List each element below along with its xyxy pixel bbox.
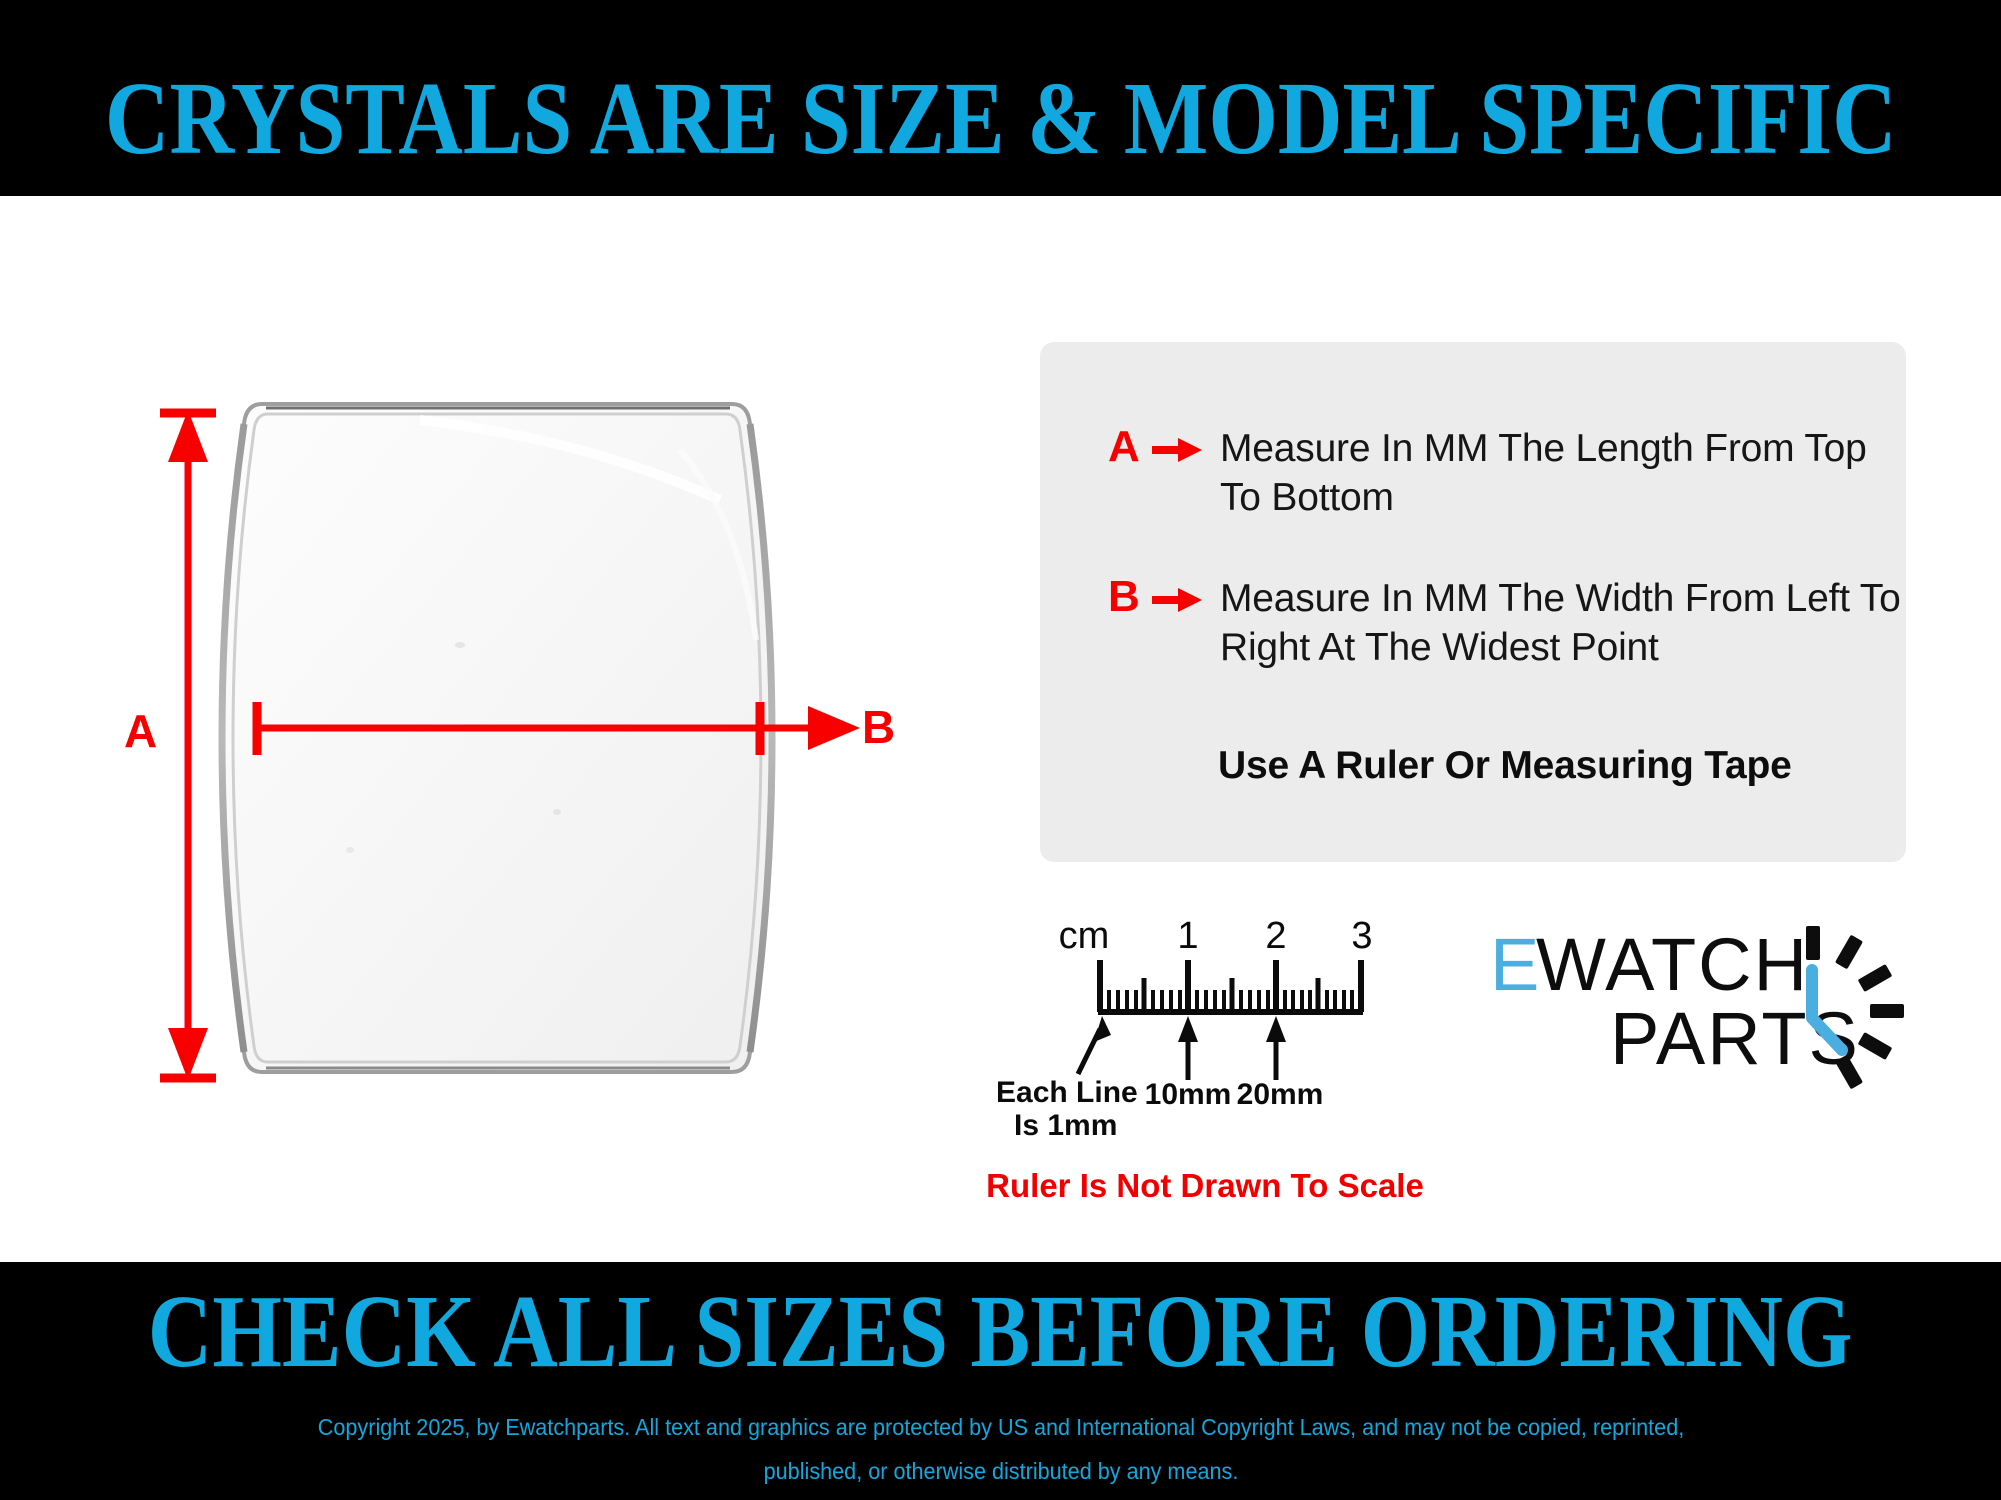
instruction-b-text: Measure In MM The Width From Left To Rig… — [1220, 574, 1906, 672]
ruler-label-2: 2 — [1265, 915, 1286, 957]
ruler-callout-10mm: 10mm — [1145, 1078, 1232, 1111]
ruler-label-1: 1 — [1177, 915, 1198, 957]
ruler-callout-20mm: 20mm — [1237, 1078, 1324, 1111]
ruler-label-3: 3 — [1351, 915, 1372, 957]
arrow-right-icon — [1150, 578, 1204, 624]
bottom-banner: CHECK ALL SIZES BEFORE ORDERING Copyrigh… — [0, 1262, 2001, 1500]
ruler-caption-line2: Is 1mm — [1014, 1109, 1117, 1142]
ruler-caption-line1: Each Line — [996, 1076, 1138, 1109]
instructions-panel: A Measure In MM The Length From Top To B… — [1040, 342, 1906, 862]
arrowhead-right — [808, 706, 860, 750]
instruction-a-text: Measure In MM The Length From Top To Bot… — [1220, 424, 1906, 522]
dimension-a-label: A — [124, 708, 157, 754]
crystal-illustration — [120, 380, 950, 1110]
logo-letter-e: E — [1490, 923, 1541, 1006]
callout-arrowhead-1mm — [1094, 1016, 1111, 1042]
dimension-b-arrow — [120, 380, 950, 1110]
top-banner: CRYSTALS ARE SIZE & MODEL SPECIFIC — [0, 0, 2001, 196]
copyright-notice: Copyright 2025, by Ewatchparts. All text… — [267, 1406, 1733, 1493]
ewatchparts-logo-svg: E WATCH PARTS — [1490, 912, 1920, 1112]
logo-text-parts: PARTS — [1610, 997, 1860, 1080]
instruction-a-letter: A — [1108, 424, 1142, 470]
top-banner-title: CRYSTALS ARE SIZE & MODEL SPECIFIC — [105, 67, 1897, 171]
crystal-size-guide-page: CRYSTALS ARE SIZE & MODEL SPECIFIC — [0, 0, 2001, 1500]
instruction-note: Use A Ruler Or Measuring Tape — [1218, 742, 1792, 790]
callout-arrowhead-20mm — [1266, 1016, 1286, 1042]
bottom-banner-title: CHECK ALL SIZES BEFORE ORDERING — [148, 1280, 1853, 1384]
callout-arrowhead-10mm — [1178, 1016, 1198, 1042]
arrow-right-icon — [1150, 428, 1204, 474]
ruler-not-to-scale-note: Ruler Is Not Drawn To Scale — [975, 1168, 1435, 1204]
ruler-svg: cm 1 2 3 — [980, 902, 1400, 1172]
dimension-b-label: B — [862, 704, 895, 750]
instruction-row-b: B Measure In MM The Width From Left To R… — [1108, 574, 1906, 672]
logo-text-watch: WATCH — [1536, 923, 1809, 1006]
ruler-label-cm: cm — [1059, 915, 1110, 957]
instruction-b-letter: B — [1108, 574, 1142, 620]
brand-logo: E WATCH PARTS — [1490, 912, 1920, 1112]
ruler-diagram: cm 1 2 3 — [980, 902, 1400, 1172]
instruction-row-a: A Measure In MM The Length From Top To B… — [1108, 424, 1906, 522]
